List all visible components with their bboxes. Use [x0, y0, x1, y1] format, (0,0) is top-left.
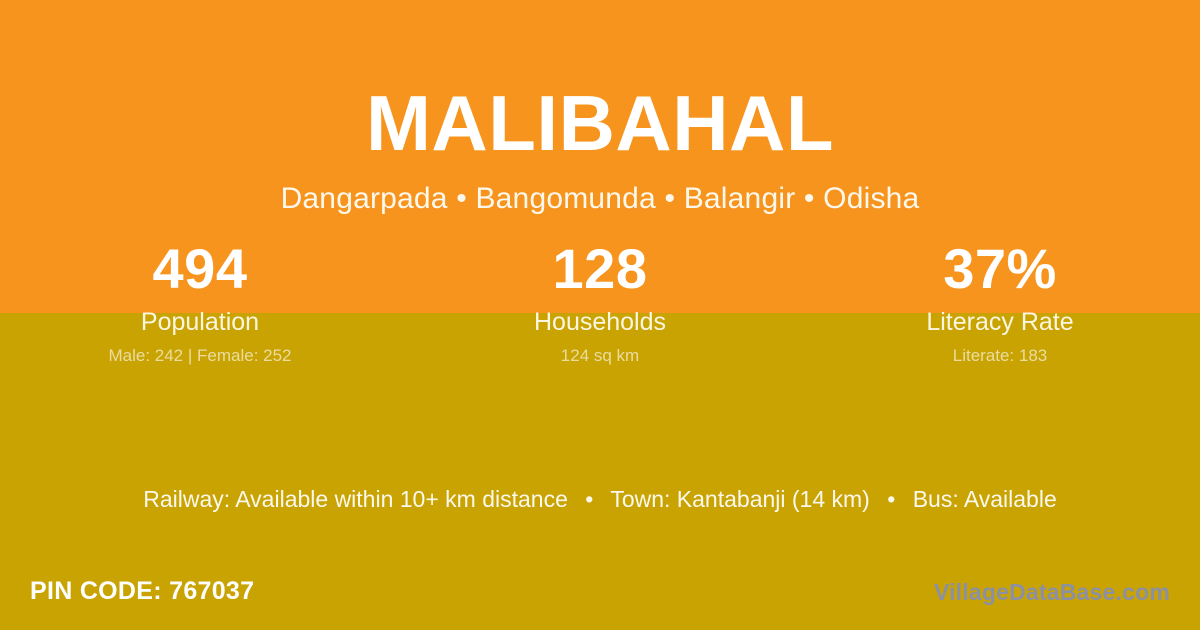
pin-code: PIN CODE: 767037 — [30, 574, 254, 608]
stat-households: 128 Households 124 sq km — [400, 238, 800, 366]
transport-town: Town: Kantabanji (14 km) — [610, 486, 870, 512]
stat-label-population: Population — [0, 308, 400, 336]
transport-info: Railway: Available within 10+ km distanc… — [0, 484, 1200, 514]
stat-value-population: 494 — [0, 238, 400, 300]
footer: PIN CODE: 767037 VillageDataBase.com — [0, 574, 1200, 630]
stat-population: 494 Population Male: 242 | Female: 252 — [0, 238, 400, 366]
transport-separator-2: • — [876, 484, 906, 514]
site-watermark: VillageDataBase.com — [934, 577, 1170, 607]
transport-railway: Railway: Available within 10+ km distanc… — [143, 486, 568, 512]
header: MALIBAHAL Dangarpada • Bangomunda • Bala… — [0, 0, 1200, 216]
transport-bus: Bus: Available — [913, 486, 1057, 512]
stat-sub-literacy-rate: Literate: 183 — [800, 346, 1200, 366]
stat-value-literacy-rate: 37% — [800, 238, 1200, 300]
stat-sub-households: 124 sq km — [400, 346, 800, 366]
stats-row: 494 Population Male: 242 | Female: 252 1… — [0, 238, 1200, 366]
breadcrumb: Dangarpada • Bangomunda • Balangir • Odi… — [0, 162, 1200, 216]
transport-separator-1: • — [574, 484, 604, 514]
stat-value-households: 128 — [400, 238, 800, 300]
village-info-card: MALIBAHAL Dangarpada • Bangomunda • Bala… — [0, 0, 1200, 630]
stat-label-households: Households — [400, 308, 800, 336]
stat-label-literacy-rate: Literacy Rate — [800, 308, 1200, 336]
page-title: MALIBAHAL — [0, 0, 1200, 162]
stat-literacy-rate: 37% Literacy Rate Literate: 183 — [800, 238, 1200, 366]
stat-sub-population: Male: 242 | Female: 252 — [0, 346, 400, 366]
